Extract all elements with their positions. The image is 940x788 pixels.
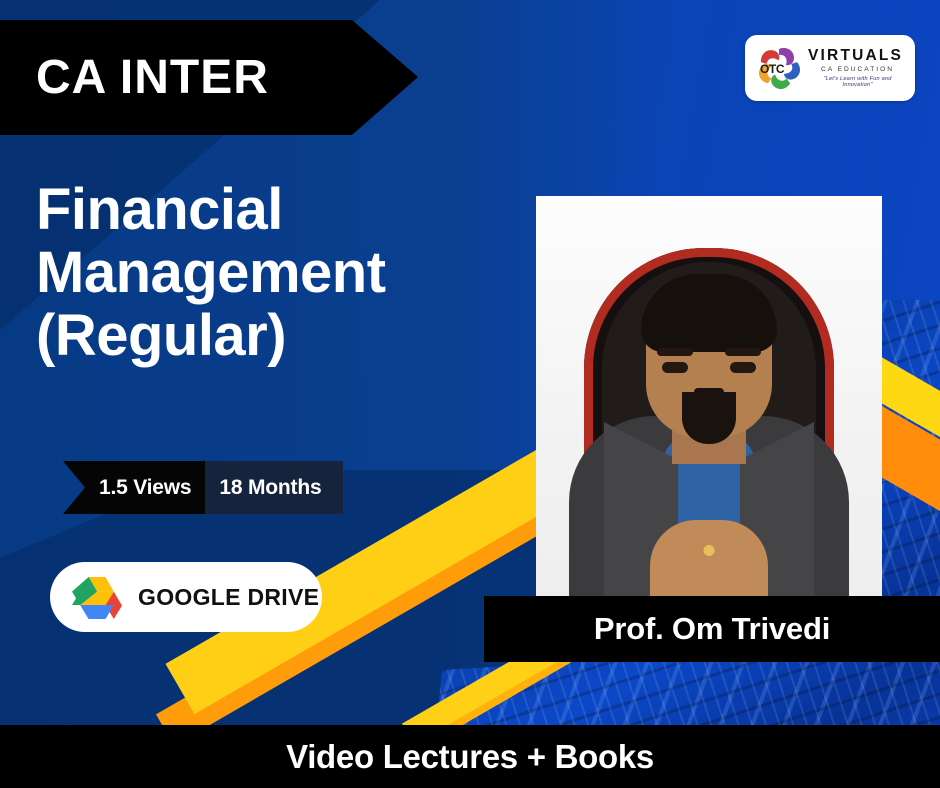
otc-text: OTC — [760, 62, 784, 76]
eyebrow-left — [657, 348, 693, 356]
eye-left — [662, 362, 688, 373]
course-title-line-2: Management — [36, 241, 536, 304]
eye-right — [730, 362, 756, 373]
duration-label: 18 Months — [205, 461, 343, 514]
otc-pinwheel-icon: OTC — [753, 42, 805, 94]
eyebrow-right — [725, 348, 761, 356]
instructor-name: Prof. Om Trivedi — [594, 611, 830, 647]
footer-bar: Video Lectures + Books — [0, 725, 940, 788]
course-meta-badge: 1.5 Views 18 Months — [63, 461, 343, 514]
google-drive-icon — [72, 575, 122, 619]
instructor-photo — [536, 196, 882, 612]
course-level-banner: CA INTER — [0, 20, 418, 135]
beard — [682, 392, 736, 444]
instructor-name-bar: Prof. Om Trivedi — [484, 596, 940, 662]
brand-name: VIRTUALS — [808, 48, 907, 64]
course-level-label: CA INTER — [36, 54, 269, 102]
brand-logo-card[interactable]: OTC VIRTUALS CA EDUCATION "Let's Learn w… — [745, 35, 915, 101]
brand-tagline: "Let's Learn with Fun and Innovation" — [808, 76, 907, 88]
course-poster: CA INTER OTC VIRTUALS CA EDUCATION "Let'… — [0, 0, 940, 788]
ring — [704, 545, 715, 556]
course-title-line-1: Financial — [36, 178, 536, 241]
course-title-line-3: (Regular) — [36, 304, 536, 367]
delivery-mode-label: GOOGLE DRIVE — [138, 584, 319, 611]
footer-label: Video Lectures + Books — [286, 738, 654, 776]
brand-subtitle: CA EDUCATION — [808, 66, 907, 73]
delivery-mode-pill[interactable]: GOOGLE DRIVE — [50, 562, 322, 632]
course-title: Financial Management (Regular) — [36, 178, 536, 368]
brand-text-block: VIRTUALS CA EDUCATION "Let's Learn with … — [808, 48, 907, 89]
